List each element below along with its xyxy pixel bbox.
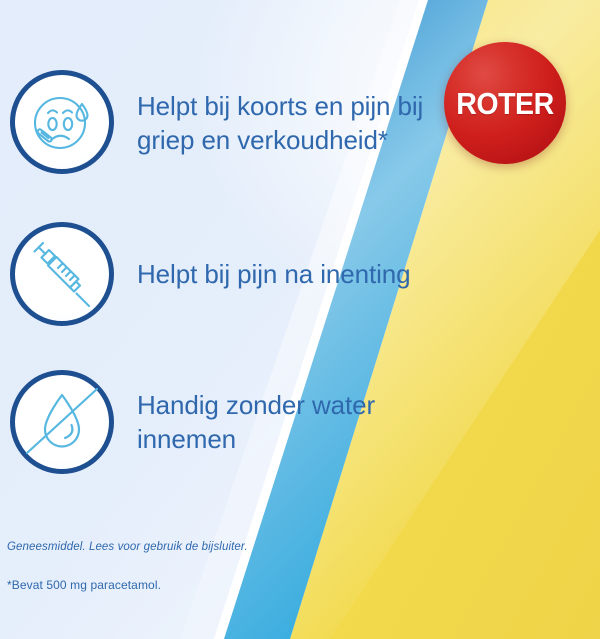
ingredient-note: *Bevat 500 mg paracetamol. <box>7 578 427 592</box>
benefit-text: Handig zonder water innemen <box>137 388 467 457</box>
footnotes: Geneesmiddel. Lees voor gebruik de bijsl… <box>7 541 427 592</box>
benefit-icon-circle <box>10 370 114 474</box>
benefit-row: Handig zonder water innemen <box>10 370 467 474</box>
roter-product-banner: ROTER <box>0 0 600 639</box>
benefit-icon-circle <box>10 70 114 174</box>
benefit-text: Helpt bij koorts en pijn bij griep en ve… <box>137 89 467 158</box>
no-water-drop-icon <box>19 379 105 465</box>
benefit-text: Helpt bij pijn na inenting <box>137 257 410 291</box>
benefit-row: Helpt bij koorts en pijn bij griep en ve… <box>10 70 467 174</box>
syringe-icon <box>26 238 98 310</box>
benefit-row: Helpt bij pijn na inenting <box>10 222 410 326</box>
roter-logo-text: ROTER <box>456 88 554 119</box>
legal-disclaimer: Geneesmiddel. Lees voor gebruik de bijsl… <box>7 541 427 553</box>
benefit-icon-circle <box>10 222 114 326</box>
sick-face-thermometer-icon <box>26 86 98 158</box>
